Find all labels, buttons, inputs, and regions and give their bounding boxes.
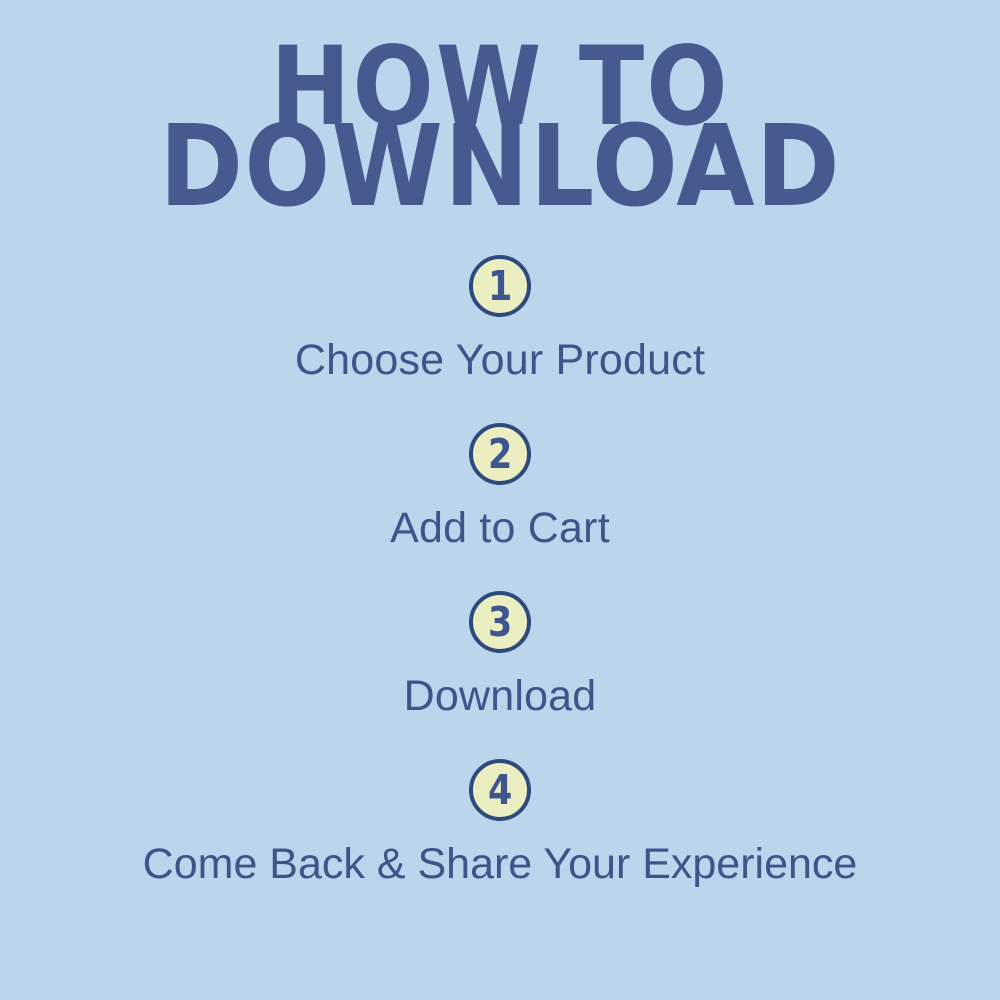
step-item-2: 2 Add to Cart (0, 423, 1000, 591)
step-number-badge-2: 2 (469, 423, 531, 485)
page-title: HOW TO DOWNLOAD (0, 44, 1000, 195)
how-to-download-poster: HOW TO DOWNLOAD 1 Choose Your Product 2 … (0, 0, 1000, 1000)
step-number-4: 4 (488, 769, 512, 810)
step-number-badge-3: 3 (469, 591, 531, 653)
step-item-4: 4 Come Back & Share Your Experience (0, 759, 1000, 927)
step-number-badge-4: 4 (469, 759, 531, 821)
step-label-2: Add to Cart (0, 506, 1000, 551)
step-label-3: Download (0, 674, 1000, 719)
steps-list: 1 Choose Your Product 2 Add to Cart 3 Do… (0, 255, 1000, 927)
step-label-4: Come Back & Share Your Experience (0, 842, 1000, 887)
step-number-badge-1: 1 (469, 255, 531, 317)
step-number-3: 3 (488, 601, 512, 642)
step-item-1: 1 Choose Your Product (0, 255, 1000, 423)
step-item-3: 3 Download (0, 591, 1000, 759)
step-label-1: Choose Your Product (0, 338, 1000, 383)
step-number-2: 2 (488, 433, 512, 474)
step-number-1: 1 (488, 265, 512, 306)
page-title-line-2: DOWNLOAD (0, 122, 1000, 212)
